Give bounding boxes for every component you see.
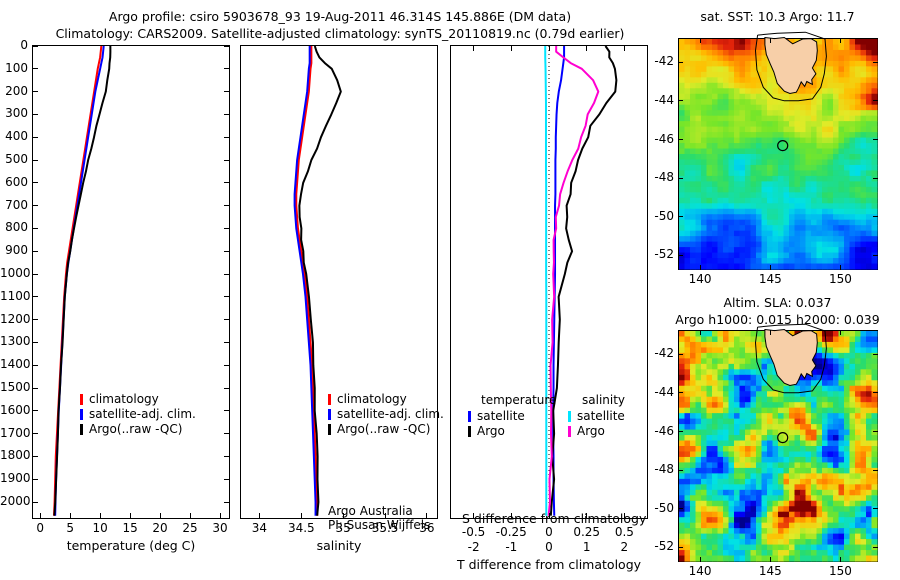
- map-x-tick: [770, 557, 771, 562]
- depth-tick: [32, 479, 38, 480]
- depth-tick: [224, 456, 230, 457]
- map-y-tick: [873, 178, 878, 179]
- depth-tick: [224, 137, 230, 138]
- depth-tick-label: 1700: [0, 426, 28, 440]
- legend-label: satellite-adj. clim.: [89, 407, 196, 421]
- depth-tick: [32, 91, 38, 92]
- temperature-panel[interactable]: [32, 45, 230, 519]
- s-diff-tick: [549, 45, 550, 51]
- map-y-tick: [678, 178, 683, 179]
- depth-tick: [224, 160, 230, 161]
- argo-australia-note: Argo Australia: [328, 504, 413, 518]
- depth-tick: [32, 46, 38, 47]
- map-y-tick: [678, 354, 683, 355]
- depth-tick-label: 900: [0, 243, 28, 257]
- map-x-tick-label: 140: [675, 564, 725, 578]
- depth-tick: [224, 228, 230, 229]
- difference-panel[interactable]: [450, 45, 648, 519]
- map-y-tick-label: -48: [638, 170, 674, 184]
- depth-tick-label: 1300: [0, 334, 28, 348]
- legend-group-salinity: salinity: [582, 393, 625, 407]
- map-y-tick-label: -50: [638, 209, 674, 223]
- depth-tick: [32, 296, 38, 297]
- map-y-tick: [678, 470, 683, 471]
- page-title-line2: Climatology: CARS2009. Satellite-adjuste…: [0, 26, 680, 41]
- legend-group-temperature: temperature: [481, 393, 556, 407]
- depth-tick: [224, 91, 230, 92]
- depth-tick: [32, 410, 38, 411]
- map-y-tick-label: -42: [638, 54, 674, 68]
- depth-tick: [224, 479, 230, 480]
- depth-tick-label: 600: [0, 175, 28, 189]
- x-tick: [259, 513, 260, 519]
- depth-tick: [32, 319, 38, 320]
- depth-tick-label: 0: [0, 38, 28, 52]
- depth-tick-label: 400: [0, 129, 28, 143]
- x-tick: [100, 513, 101, 519]
- depth-tick: [224, 342, 230, 343]
- depth-tick: [32, 205, 38, 206]
- map-x-tick: [840, 557, 841, 562]
- depth-tick: [32, 456, 38, 457]
- pi-note: PI: Susan Wijffels: [328, 518, 430, 532]
- legend-label: satellite: [477, 409, 525, 423]
- map-y-tick: [678, 216, 683, 217]
- depth-tick: [32, 388, 38, 389]
- map-y-tick-label: -50: [638, 501, 674, 515]
- legend-swatch: [328, 409, 331, 420]
- depth-tick-label: 300: [0, 106, 28, 120]
- legend-label: Argo(..raw -QC): [337, 422, 430, 436]
- depth-tick-label: 1000: [0, 266, 28, 280]
- depth-tick: [32, 137, 38, 138]
- depth-tick: [32, 160, 38, 161]
- sst-map-canvas: [679, 39, 877, 269]
- legend-swatch: [568, 411, 571, 422]
- x-tick: [301, 513, 302, 519]
- map-x-tick: [770, 265, 771, 270]
- sla-map-title-line1: Altim. SLA: 0.037: [660, 295, 895, 310]
- series-salinity-satellite: [545, 46, 546, 516]
- depth-tick-label: 700: [0, 198, 28, 212]
- depth-tick-label: 200: [0, 84, 28, 98]
- map-y-tick-label: -46: [638, 132, 674, 146]
- s-diff-tick: [624, 45, 625, 51]
- depth-tick: [32, 228, 38, 229]
- series-temperature-argo: [551, 46, 617, 516]
- map-y-tick: [873, 100, 878, 101]
- depth-tick-label: 2000: [0, 494, 28, 508]
- map-y-tick-label: -46: [638, 424, 674, 438]
- map-y-tick: [678, 508, 683, 509]
- x-tick: [130, 513, 131, 519]
- depth-tick: [224, 388, 230, 389]
- depth-tick-label: 800: [0, 220, 28, 234]
- depth-tick-label: 1200: [0, 312, 28, 326]
- legend-label: climatology: [89, 392, 159, 406]
- map-y-tick: [873, 470, 878, 471]
- legend-swatch: [80, 424, 83, 435]
- map-y-tick: [873, 216, 878, 217]
- legend-swatch: [568, 426, 571, 437]
- map-x-tick: [840, 265, 841, 270]
- map-x-tick-label: 150: [815, 564, 865, 578]
- depth-tick: [224, 182, 230, 183]
- salinity-plot-area: [241, 46, 437, 518]
- map-y-tick: [873, 508, 878, 509]
- map-x-tick: [770, 330, 771, 335]
- map-y-tick-label: -44: [638, 93, 674, 107]
- map-y-tick: [873, 547, 878, 548]
- map-y-tick: [873, 392, 878, 393]
- depth-tick: [32, 342, 38, 343]
- depth-tick-label: 1900: [0, 471, 28, 485]
- depth-tick-label: 1600: [0, 403, 28, 417]
- map-y-tick: [678, 431, 683, 432]
- map-x-tick: [840, 38, 841, 43]
- page-title-line1: Argo profile: csiro 5903678_93 19-Aug-20…: [0, 9, 680, 24]
- legend-swatch: [80, 394, 83, 405]
- map-y-tick: [678, 255, 683, 256]
- legend-swatch: [80, 409, 83, 420]
- depth-tick-label: 1100: [0, 289, 28, 303]
- depth-tick: [32, 433, 38, 434]
- depth-tick: [224, 319, 230, 320]
- legend-label: satellite: [577, 409, 625, 423]
- depth-tick: [32, 251, 38, 252]
- depth-tick: [224, 502, 230, 503]
- x-tick: [220, 513, 221, 519]
- s-diff-tick: [511, 45, 512, 51]
- depth-tick: [224, 410, 230, 411]
- depth-tick-label: 1500: [0, 380, 28, 394]
- salinity-panel[interactable]: [240, 45, 438, 519]
- depth-tick: [32, 274, 38, 275]
- depth-tick: [32, 114, 38, 115]
- map-y-tick: [678, 547, 683, 548]
- map-y-tick: [873, 431, 878, 432]
- depth-tick: [224, 274, 230, 275]
- difference-temperature-axis-label: T difference from climatology: [450, 557, 648, 572]
- map-x-tick-label: 145: [745, 564, 795, 578]
- depth-tick: [224, 68, 230, 69]
- map-y-tick: [873, 255, 878, 256]
- map-y-tick: [678, 62, 683, 63]
- map-y-tick: [678, 139, 683, 140]
- depth-tick: [32, 365, 38, 366]
- map-y-tick: [873, 354, 878, 355]
- legend-label: Argo(..raw -QC): [89, 422, 182, 436]
- map-x-tick-label: 145: [745, 272, 795, 286]
- depth-tick: [32, 182, 38, 183]
- depth-tick: [224, 114, 230, 115]
- s-diff-tick: [586, 45, 587, 51]
- difference-plot-area: [451, 46, 647, 518]
- legend-swatch: [468, 411, 471, 422]
- x-tick: [160, 513, 161, 519]
- sla-map[interactable]: [678, 330, 878, 562]
- x-tick: [190, 513, 191, 519]
- map-x-tick-label: 150: [815, 272, 865, 286]
- difference-salinity-axis-label: S difference from climatology: [450, 511, 648, 526]
- depth-tick: [224, 365, 230, 366]
- series-satellite-adj-clim-: [55, 46, 104, 516]
- map-y-tick: [678, 100, 683, 101]
- map-x-tick: [770, 38, 771, 43]
- depth-tick: [224, 46, 230, 47]
- map-x-tick: [700, 265, 701, 270]
- temperature-axis-label: temperature (deg C): [32, 538, 230, 553]
- legend-swatch: [328, 424, 331, 435]
- depth-tick-label: 500: [0, 152, 28, 166]
- depth-tick: [32, 68, 38, 69]
- x-tick: [70, 513, 71, 519]
- map-y-tick-label: -52: [638, 247, 674, 261]
- map-x-tick: [840, 330, 841, 335]
- map-y-tick: [873, 62, 878, 63]
- x-tick: [40, 513, 41, 519]
- salinity-axis-label: salinity: [240, 538, 438, 553]
- depth-tick: [224, 251, 230, 252]
- depth-tick: [224, 433, 230, 434]
- legend-swatch: [468, 426, 471, 437]
- map-y-tick: [873, 139, 878, 140]
- series-climatology: [54, 46, 101, 516]
- legend-swatch: [328, 394, 331, 405]
- depth-tick-label: 1800: [0, 448, 28, 462]
- legend-label: climatology: [337, 392, 407, 406]
- s-diff-tick: [473, 45, 474, 51]
- map-x-tick-label: 140: [675, 272, 725, 286]
- depth-tick: [224, 296, 230, 297]
- map-y-tick-label: -42: [638, 346, 674, 360]
- depth-tick: [224, 205, 230, 206]
- depth-tick: [32, 502, 38, 503]
- series-argo-raw-qc-: [54, 46, 110, 516]
- s-diff-tick-label: 0.5: [594, 525, 654, 539]
- sst-map-title: sat. SST: 10.3 Argo: 11.7: [660, 9, 895, 24]
- legend-label: Argo: [477, 424, 505, 438]
- map-y-tick-label: -52: [638, 539, 674, 553]
- depth-tick-label: 100: [0, 61, 28, 75]
- map-y-tick-label: -48: [638, 462, 674, 476]
- map-y-tick-label: -44: [638, 385, 674, 399]
- map-x-tick: [700, 38, 701, 43]
- legend-label: satellite-adj. clim.: [337, 407, 444, 421]
- map-x-tick: [700, 330, 701, 335]
- legend-label: Argo: [577, 424, 605, 438]
- sst-map[interactable]: [678, 38, 878, 270]
- temperature-plot-area: [33, 46, 229, 518]
- sla-map-canvas: [679, 331, 877, 561]
- map-y-tick: [678, 392, 683, 393]
- map-x-tick: [700, 557, 701, 562]
- depth-tick-label: 1400: [0, 357, 28, 371]
